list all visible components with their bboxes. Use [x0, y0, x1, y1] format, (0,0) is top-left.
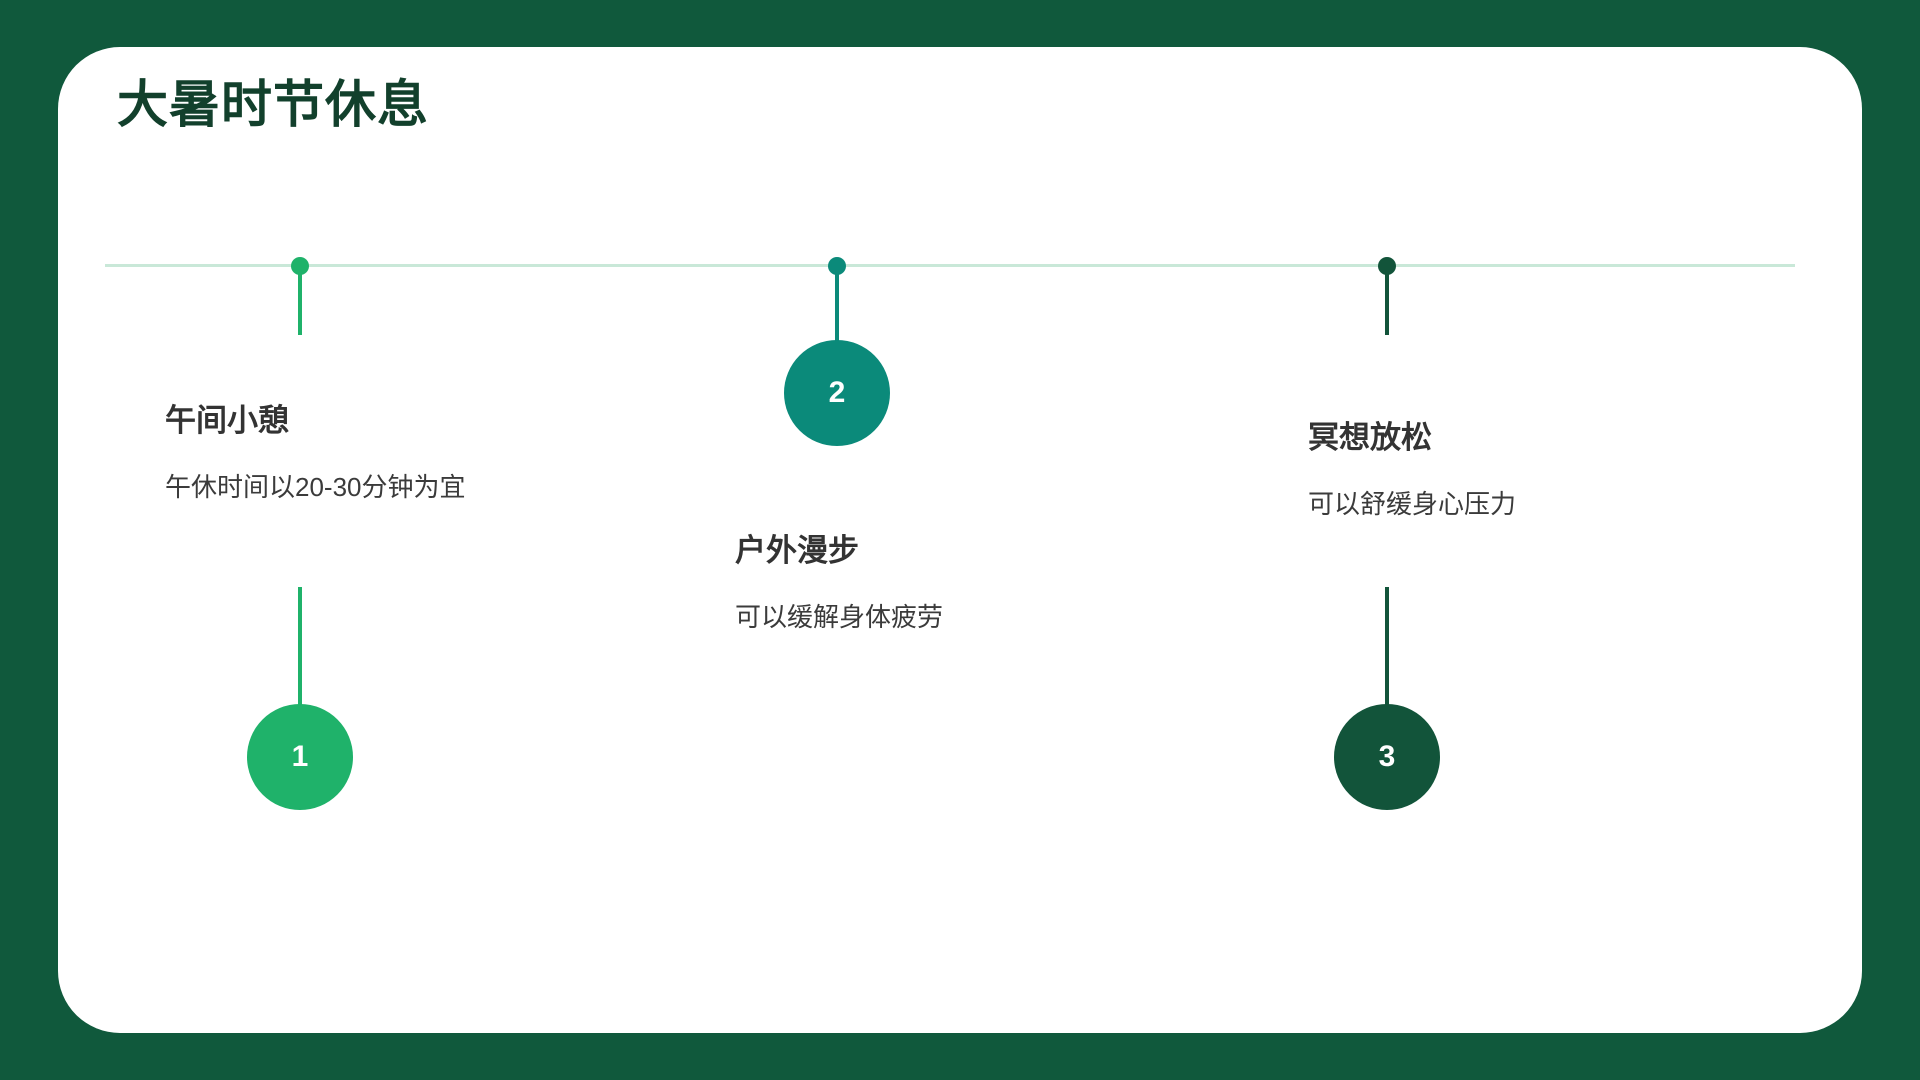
slide-canvas: 大暑时节休息 午间小憩 午休时间以20-30分钟为宜 1 2 户外漫步 可以缓解… — [0, 0, 1920, 1080]
item-heading-2: 户外漫步 — [735, 532, 859, 569]
timeline-stem-bottom-3 — [1385, 587, 1389, 712]
item-heading-1: 午间小憩 — [165, 402, 289, 439]
corner-notch-bottom-left — [58, 971, 120, 1033]
corner-notch-top-left — [58, 47, 120, 109]
page-title: 大暑时节休息 — [117, 74, 429, 135]
timeline-stem-top-3 — [1385, 273, 1389, 335]
timeline-stem-bottom-1 — [298, 587, 302, 712]
timeline-axis — [105, 264, 1795, 267]
timeline-stem-top-1 — [298, 273, 302, 335]
timeline-number-circle-3[interactable]: 3 — [1334, 704, 1440, 810]
timeline-stem-top-2 — [835, 273, 839, 345]
content-panel — [58, 47, 1862, 1033]
item-heading-3: 冥想放松 — [1308, 419, 1432, 456]
corner-notch-bottom-right — [1800, 971, 1862, 1033]
timeline-number-circle-2[interactable]: 2 — [784, 340, 890, 446]
item-description-2: 可以缓解身体疲劳 — [735, 601, 943, 635]
timeline-number-circle-1[interactable]: 1 — [247, 704, 353, 810]
item-description-1: 午休时间以20-30分钟为宜 — [165, 471, 466, 505]
corner-notch-top-right — [1800, 47, 1862, 109]
item-description-3: 可以舒缓身心压力 — [1308, 488, 1516, 522]
